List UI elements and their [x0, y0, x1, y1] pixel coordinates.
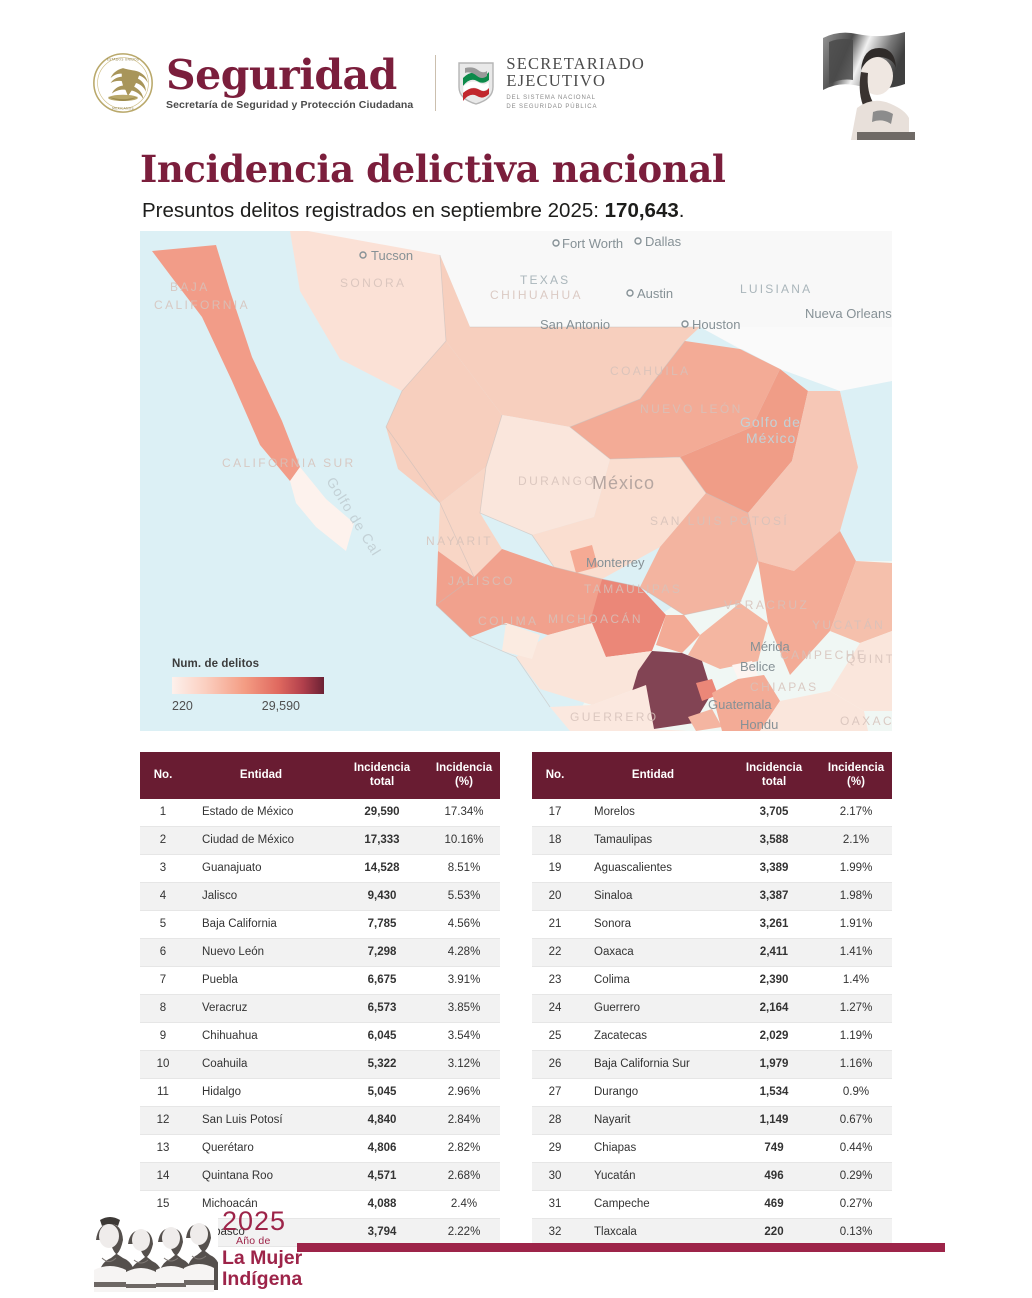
table-row: 2Ciudad de México17,33310.16% [140, 826, 500, 854]
cell-no: 19 [532, 854, 578, 882]
page-title: Incidencia delictiva nacional [140, 148, 920, 191]
cell-incidencia-total: 1,149 [728, 1106, 820, 1134]
cell-entidad: Chihuahua [186, 1022, 336, 1050]
cell-incidencia-pct: 2.1% [820, 826, 892, 854]
table-row: 19Aguascalientes3,3891.99% [532, 854, 892, 882]
cell-no: 23 [532, 966, 578, 994]
cell-entidad: Sinaloa [578, 882, 728, 910]
table-row: 26Baja California Sur1,9791.16% [532, 1050, 892, 1078]
brand-subtitle: Secretaría de Seguridad y Protección Ciu… [166, 99, 413, 111]
cell-incidencia-total: 3,261 [728, 910, 820, 938]
table-row: 13Querétaro4,8062.82% [140, 1134, 500, 1162]
table-row: 17Morelos3,7052.17% [532, 799, 892, 827]
cell-incidencia-pct: 0.9% [820, 1078, 892, 1106]
cell-incidencia-pct: 0.67% [820, 1106, 892, 1134]
subtitle-prefix: Presuntos delitos registrados en septiem… [142, 199, 605, 222]
table-row: 28Nayarit1,1490.67% [532, 1106, 892, 1134]
cell-no: 27 [532, 1078, 578, 1106]
table-header-row: No. Entidad Incidenciatotal Incidencia(%… [532, 752, 892, 799]
table-row: 14Quintana Roo4,5712.68% [140, 1162, 500, 1190]
brand-lockup: ESTADOS UNIDOS MEXICANOS Seguridad Secre… [92, 52, 645, 114]
legend-max-value: 29,590 [262, 699, 300, 713]
seguridad-wordmark: Seguridad Secretaría de Seguridad y Prot… [166, 55, 413, 111]
cell-incidencia-total: 9,430 [336, 882, 428, 910]
subtitle-suffix: . [679, 199, 685, 222]
cell-entidad: Estado de México [186, 799, 336, 827]
table-row: 20Sinaloa3,3871.98% [532, 882, 892, 910]
table-row: 18Tamaulipas3,5882.1% [532, 826, 892, 854]
cell-no: 29 [532, 1134, 578, 1162]
cell-incidencia-pct: 0.29% [820, 1162, 892, 1190]
cell-no: 20 [532, 882, 578, 910]
legend-gradient-bar [172, 677, 324, 694]
cell-entidad: Nayarit [578, 1106, 728, 1134]
table-row: 6Nuevo León7,2984.28% [140, 938, 500, 966]
cell-incidencia-pct: 1.4% [820, 966, 892, 994]
cell-entidad: Tamaulipas [578, 826, 728, 854]
cell-incidencia-pct: 1.99% [820, 854, 892, 882]
brand-divider [435, 55, 436, 111]
cell-entidad: Puebla [186, 966, 336, 994]
cell-entidad: Zacatecas [578, 1022, 728, 1050]
cell-incidencia-pct: 2.96% [428, 1078, 500, 1106]
cell-incidencia-pct: 3.12% [428, 1050, 500, 1078]
col-header-pct-line1: Incidencia [436, 762, 492, 774]
svg-text:ESTADOS UNIDOS: ESTADOS UNIDOS [107, 58, 139, 62]
map-legend: Num. de delitos 220 29,590 [172, 658, 330, 713]
col-header-entidad: Entidad [578, 752, 728, 799]
table-row: 21Sonora3,2611.91% [532, 910, 892, 938]
cell-no: 9 [140, 1022, 186, 1050]
cell-incidencia-pct: 3.91% [428, 966, 500, 994]
col-header-pct-line2: (%) [455, 776, 473, 788]
cell-incidencia-pct: 1.41% [820, 938, 892, 966]
cell-entidad: Nuevo León [186, 938, 336, 966]
col-header-pct-line1: Incidencia [828, 762, 884, 774]
cell-incidencia-total: 1,534 [728, 1078, 820, 1106]
footer-accent-bar [297, 1243, 945, 1252]
svg-text:MEXICANOS: MEXICANOS [112, 107, 134, 111]
choropleth-map[interactable]: Tucson Fort Worth Dallas Austin San Anto… [140, 231, 892, 731]
cell-incidencia-total: 6,573 [336, 994, 428, 1022]
col-header-entidad: Entidad [186, 752, 336, 799]
table-row: 11Hidalgo5,0452.96% [140, 1078, 500, 1106]
table-row: 10Coahuila5,3223.12% [140, 1050, 500, 1078]
cell-no: 6 [140, 938, 186, 966]
cell-incidencia-total: 7,298 [336, 938, 428, 966]
sesnsp-line1: SECRETARIADO [506, 55, 645, 72]
cell-incidencia-pct: 4.28% [428, 938, 500, 966]
sesnsp-line2: EJECUTIVO [506, 72, 645, 89]
col-header-total: Incidenciatotal [336, 752, 428, 799]
col-header-pct: Incidencia(%) [820, 752, 892, 799]
cell-no: 21 [532, 910, 578, 938]
cell-incidencia-total: 4,840 [336, 1106, 428, 1134]
cell-entidad: Aguascalientes [578, 854, 728, 882]
cell-entidad: Yucatán [578, 1162, 728, 1190]
col-header-total: Incidenciatotal [728, 752, 820, 799]
col-header-pct: Incidencia(%) [428, 752, 500, 799]
col-header-total-line1: Incidencia [746, 762, 802, 774]
cell-entidad: San Luis Potosí [186, 1106, 336, 1134]
table-row: 3Guanajuato14,5288.51% [140, 854, 500, 882]
cell-incidencia-pct: 1.91% [820, 910, 892, 938]
cell-incidencia-pct: 2.82% [428, 1134, 500, 1162]
brand-word: Seguridad [166, 55, 413, 95]
cell-no: 7 [140, 966, 186, 994]
cell-entidad: Coahuila [186, 1050, 336, 1078]
cell-incidencia-total: 3,387 [728, 882, 820, 910]
table-row: 24Guerrero2,1641.27% [532, 994, 892, 1022]
table-row: 22Oaxaca2,4111.41% [532, 938, 892, 966]
cell-incidencia-total: 3,389 [728, 854, 820, 882]
sesnsp-text: SECRETARIADO EJECUTIVO DEL SISTEMA NACIO… [506, 55, 645, 111]
cell-entidad: Baja California Sur [578, 1050, 728, 1078]
cell-no: 10 [140, 1050, 186, 1078]
cell-entidad: Colima [578, 966, 728, 994]
cell-no: 8 [140, 994, 186, 1022]
cell-no: 1 [140, 799, 186, 827]
cell-entidad: Ciudad de México [186, 826, 336, 854]
cell-entidad: Quintana Roo [186, 1162, 336, 1190]
legend-min-value: 220 [172, 699, 193, 713]
table-row: 30Yucatán4960.29% [532, 1162, 892, 1190]
cell-incidencia-pct: 1.27% [820, 994, 892, 1022]
cell-no: 26 [532, 1050, 578, 1078]
col-header-total-line2: total [762, 776, 786, 788]
cell-incidencia-total: 3,588 [728, 826, 820, 854]
cell-incidencia-total: 2,411 [728, 938, 820, 966]
legend-scale: 220 29,590 [172, 699, 300, 713]
page-header: ESTADOS UNIDOS MEXICANOS Seguridad Secre… [0, 0, 1032, 140]
cell-entidad: Baja California [186, 910, 336, 938]
incidence-tables: No. Entidad Incidenciatotal Incidencia(%… [140, 752, 892, 1247]
cell-entidad: Jalisco [186, 882, 336, 910]
cell-incidencia-total: 4,806 [336, 1134, 428, 1162]
map-haze [140, 231, 892, 731]
cell-incidencia-total: 749 [728, 1134, 820, 1162]
cell-incidencia-total: 14,528 [336, 854, 428, 882]
table-row: 9Chihuahua6,0453.54% [140, 1022, 500, 1050]
cell-no: 28 [532, 1106, 578, 1134]
cell-entidad: Guerrero [578, 994, 728, 1022]
cell-incidencia-pct: 2.17% [820, 799, 892, 827]
cell-incidencia-total: 6,675 [336, 966, 428, 994]
table-body-right: 17Morelos3,7052.17%18Tamaulipas3,5882.1%… [532, 799, 892, 1247]
cell-incidencia-pct: 3.85% [428, 994, 500, 1022]
cell-incidencia-pct: 8.51% [428, 854, 500, 882]
cell-incidencia-total: 2,390 [728, 966, 820, 994]
cell-no: 5 [140, 910, 186, 938]
cell-incidencia-total: 17,333 [336, 826, 428, 854]
cell-no: 25 [532, 1022, 578, 1050]
cell-incidencia-total: 2,164 [728, 994, 820, 1022]
cell-incidencia-pct: 4.56% [428, 910, 500, 938]
cell-entidad: Morelos [578, 799, 728, 827]
cell-incidencia-total: 2,029 [728, 1022, 820, 1050]
cell-no: 4 [140, 882, 186, 910]
sesnsp-shield-icon [456, 60, 496, 106]
cell-no: 13 [140, 1134, 186, 1162]
mexico-map-svg: Tucson Fort Worth Dallas Austin San Anto… [140, 231, 892, 731]
table-body-left: 1Estado de México29,59017.34%2Ciudad de … [140, 799, 500, 1247]
cell-incidencia-pct: 10.16% [428, 826, 500, 854]
table-head-right: No. Entidad Incidenciatotal Incidencia(%… [532, 752, 892, 799]
cell-incidencia-total: 5,045 [336, 1078, 428, 1106]
table-head-left: No. Entidad Incidenciatotal Incidencia(%… [140, 752, 500, 799]
sesnsp-line3: DEL SISTEMA NACIONAL [506, 94, 645, 102]
cell-no: 30 [532, 1162, 578, 1190]
title-block: Incidencia delictiva nacional Presuntos … [140, 148, 920, 223]
col-header-pct-line2: (%) [847, 776, 865, 788]
cell-incidencia-total: 3,705 [728, 799, 820, 827]
cell-incidencia-pct: 3.54% [428, 1022, 500, 1050]
cell-incidencia-pct: 1.19% [820, 1022, 892, 1050]
col-header-no: No. [140, 752, 186, 799]
cell-no: 22 [532, 938, 578, 966]
cell-incidencia-total: 1,979 [728, 1050, 820, 1078]
mexican-coat-of-arms-icon: ESTADOS UNIDOS MEXICANOS [92, 52, 154, 114]
table-row: 29Chiapas7490.44% [532, 1134, 892, 1162]
cell-entidad: Oaxaca [578, 938, 728, 966]
cell-entidad: Guanajuato [186, 854, 336, 882]
cell-entidad: Querétaro [186, 1134, 336, 1162]
table-row: 7Puebla6,6753.91% [140, 966, 500, 994]
cell-incidencia-pct: 1.98% [820, 882, 892, 910]
page-subtitle: Presuntos delitos registrados en septiem… [142, 199, 920, 224]
cell-incidencia-total: 7,785 [336, 910, 428, 938]
cell-incidencia-total: 5,322 [336, 1050, 428, 1078]
footer-indigena: Indígena [222, 1269, 342, 1290]
cell-no: 2 [140, 826, 186, 854]
mujeres-indigenas-illustration [86, 1210, 218, 1292]
table-row: 4Jalisco9,4305.53% [140, 882, 500, 910]
cell-incidencia-total: 29,590 [336, 799, 428, 827]
table-row: 27Durango1,5340.9% [532, 1078, 892, 1106]
table-header-row: No. Entidad Incidenciatotal Incidencia(%… [140, 752, 500, 799]
cell-no: 24 [532, 994, 578, 1022]
cell-incidencia-pct: 2.68% [428, 1162, 500, 1190]
cell-entidad: Sonora [578, 910, 728, 938]
incidence-table-left: No. Entidad Incidenciatotal Incidencia(%… [140, 752, 500, 1247]
cell-no: 17 [532, 799, 578, 827]
cell-incidencia-total: 496 [728, 1162, 820, 1190]
cell-no: 3 [140, 854, 186, 882]
col-header-no: No. [532, 752, 578, 799]
cell-incidencia-pct: 17.34% [428, 799, 500, 827]
cell-incidencia-total: 4,571 [336, 1162, 428, 1190]
cell-no: 18 [532, 826, 578, 854]
cell-incidencia-pct: 2.84% [428, 1106, 500, 1134]
cell-no: 11 [140, 1078, 186, 1106]
page-footer: 2025 Año de La Mujer Indígena [0, 1198, 1032, 1298]
cell-incidencia-pct: 5.53% [428, 882, 500, 910]
subtitle-total-value: 170,643 [605, 199, 679, 222]
col-header-total-line2: total [370, 776, 394, 788]
col-header-total-line1: Incidencia [354, 762, 410, 774]
cell-incidencia-pct: 1.16% [820, 1050, 892, 1078]
cell-no: 12 [140, 1106, 186, 1134]
cell-entidad: Hidalgo [186, 1078, 336, 1106]
table-row: 25Zacatecas2,0291.19% [532, 1022, 892, 1050]
footer-year: 2025 [222, 1208, 342, 1235]
cell-entidad: Chiapas [578, 1134, 728, 1162]
table-row: 23Colima2,3901.4% [532, 966, 892, 994]
cell-entidad: Veracruz [186, 994, 336, 1022]
table-row: 12San Luis Potosí4,8402.84% [140, 1106, 500, 1134]
cell-incidencia-total: 6,045 [336, 1022, 428, 1050]
table-row: 8Veracruz6,5733.85% [140, 994, 500, 1022]
sesnsp-lockup: SECRETARIADO EJECUTIVO DEL SISTEMA NACIO… [456, 55, 645, 111]
cell-incidencia-pct: 0.44% [820, 1134, 892, 1162]
cell-no: 14 [140, 1162, 186, 1190]
table-row: 1Estado de México29,59017.34% [140, 799, 500, 827]
incidence-table-right: No. Entidad Incidenciatotal Incidencia(%… [532, 752, 892, 1247]
cell-entidad: Durango [578, 1078, 728, 1106]
mujer-con-bandera-photo [819, 28, 927, 140]
legend-title: Num. de delitos [172, 658, 330, 670]
table-row: 5Baja California7,7854.56% [140, 910, 500, 938]
sesnsp-line4: DE SEGURIDAD PÚBLICA [506, 103, 645, 111]
